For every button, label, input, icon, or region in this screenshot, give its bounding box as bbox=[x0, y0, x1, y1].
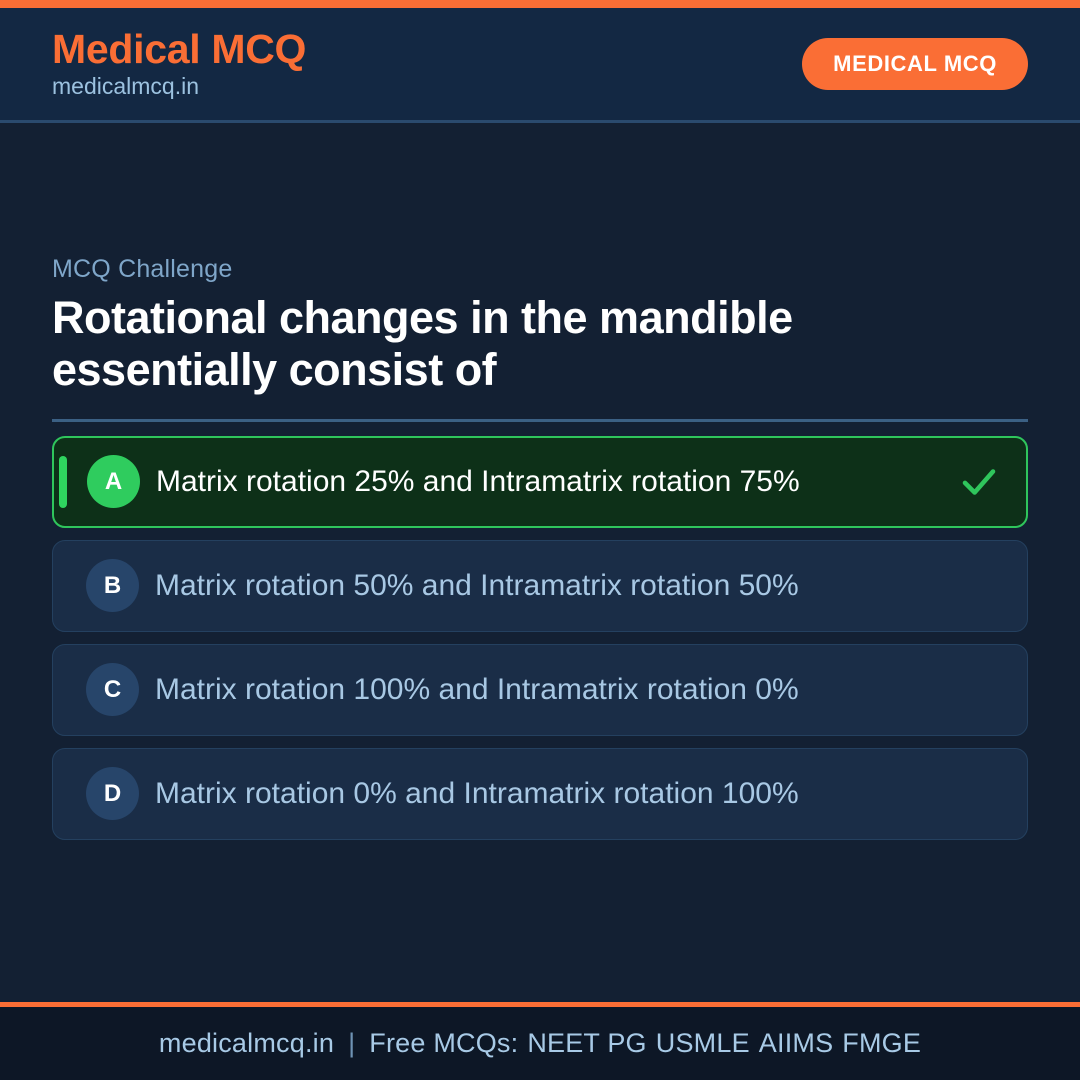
page-footer: medicalmcq.in|Free MCQs:NEET PGUSMLEAIIM… bbox=[0, 1002, 1080, 1080]
question-divider bbox=[52, 419, 1028, 422]
brand-subtitle: medicalmcq.in bbox=[52, 73, 306, 101]
footer-separator: | bbox=[334, 1028, 369, 1058]
brand: Medical MCQ medicalmcq.in bbox=[52, 27, 306, 101]
header-badge[interactable]: MEDICAL MCQ bbox=[802, 38, 1028, 90]
footer-text: medicalmcq.in|Free MCQs:NEET PGUSMLEAIIM… bbox=[159, 1028, 921, 1059]
option-text: Matrix rotation 100% and Intramatrix rot… bbox=[155, 673, 1007, 707]
correct-accent-bar bbox=[59, 456, 67, 508]
option-text: Matrix rotation 0% and Intramatrix rotat… bbox=[155, 777, 1007, 811]
footer-site[interactable]: medicalmcq.in bbox=[159, 1028, 334, 1058]
option-a[interactable]: A Matrix rotation 25% and Intramatrix ro… bbox=[52, 436, 1028, 528]
top-accent-bar bbox=[0, 0, 1080, 8]
option-letter-badge: C bbox=[86, 663, 139, 716]
footer-exam[interactable]: AIIMS bbox=[750, 1028, 834, 1058]
kicker-label: MCQ Challenge bbox=[52, 255, 1028, 284]
options-list: A Matrix rotation 25% and Intramatrix ro… bbox=[52, 436, 1028, 840]
option-text: Matrix rotation 50% and Intramatrix rota… bbox=[155, 569, 1007, 603]
option-letter-badge: A bbox=[87, 455, 140, 508]
page-header: Medical MCQ medicalmcq.in MEDICAL MCQ bbox=[0, 8, 1080, 123]
check-icon bbox=[958, 461, 1000, 503]
option-b[interactable]: B Matrix rotation 50% and Intramatrix ro… bbox=[52, 540, 1028, 632]
main-content: MCQ Challenge Rotational changes in the … bbox=[0, 123, 1080, 1002]
option-d[interactable]: D Matrix rotation 0% and Intramatrix rot… bbox=[52, 748, 1028, 840]
option-text: Matrix rotation 25% and Intramatrix rota… bbox=[156, 465, 958, 499]
question-text: Rotational changes in the mandible essen… bbox=[52, 292, 992, 395]
footer-exam-list: NEET PGUSMLEAIIMSFMGE bbox=[518, 1028, 921, 1058]
footer-exam[interactable]: NEET PG bbox=[518, 1028, 646, 1058]
brand-title: Medical MCQ bbox=[52, 27, 306, 71]
mcq-card: Medical MCQ medicalmcq.in MEDICAL MCQ MC… bbox=[0, 0, 1080, 1080]
option-letter-badge: D bbox=[86, 767, 139, 820]
footer-exam[interactable]: USMLE bbox=[647, 1028, 750, 1058]
option-c[interactable]: C Matrix rotation 100% and Intramatrix r… bbox=[52, 644, 1028, 736]
option-letter-badge: B bbox=[86, 559, 139, 612]
footer-label: Free MCQs: bbox=[369, 1028, 518, 1058]
footer-exam[interactable]: FMGE bbox=[833, 1028, 921, 1058]
